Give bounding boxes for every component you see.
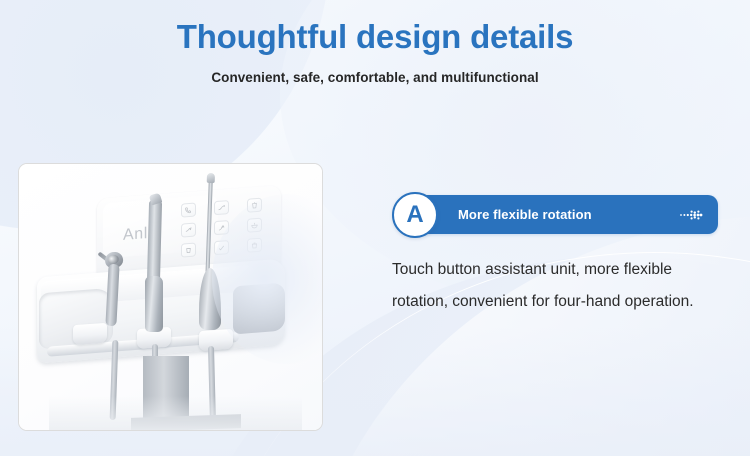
page-subtitle: Convenient, safe, comfortable, and multi… <box>0 70 750 85</box>
section-header: Thoughtful design details Convenient, sa… <box>0 16 750 85</box>
feature-badge[interactable]: More flexible rotation <box>392 192 722 238</box>
cup-icon <box>181 242 196 257</box>
instrument-holder-slot <box>73 323 107 345</box>
feature-badge-bar[interactable]: More flexible rotation <box>416 195 718 234</box>
feature-badge-label: More flexible rotation <box>458 207 592 222</box>
touch-button-grid <box>181 197 273 258</box>
dotted-arrow-right-icon <box>678 207 704 223</box>
product-photo-card: Anle <box>18 163 323 431</box>
photo-ground-shadow <box>49 396 302 430</box>
cup-fill-icon <box>247 198 262 213</box>
spray-icon <box>181 222 196 237</box>
instrument-holder-slot <box>199 329 233 351</box>
feature-description: Touch button assistant unit, more flexib… <box>392 254 704 318</box>
page-title: Thoughtful design details <box>0 16 750 58</box>
phone-handset-icon <box>181 202 196 217</box>
trash-icon <box>247 238 262 253</box>
suction-icon <box>214 220 229 235</box>
feature-info-column: More flexible rotation <box>392 192 722 318</box>
turbine-handpiece-grip <box>145 276 163 332</box>
product-photo-image: Anle <box>19 164 322 430</box>
hose-icon <box>214 200 229 215</box>
three-way-syringe-body <box>199 268 221 330</box>
feature-marker-letter: A <box>392 192 438 238</box>
feature-section: Thoughtful design details Convenient, sa… <box>0 0 750 456</box>
bowl-rinse-icon <box>247 218 262 233</box>
check-square-icon <box>214 240 229 255</box>
turbine-handpiece-stem <box>147 200 162 284</box>
tray-right-module <box>233 282 285 334</box>
